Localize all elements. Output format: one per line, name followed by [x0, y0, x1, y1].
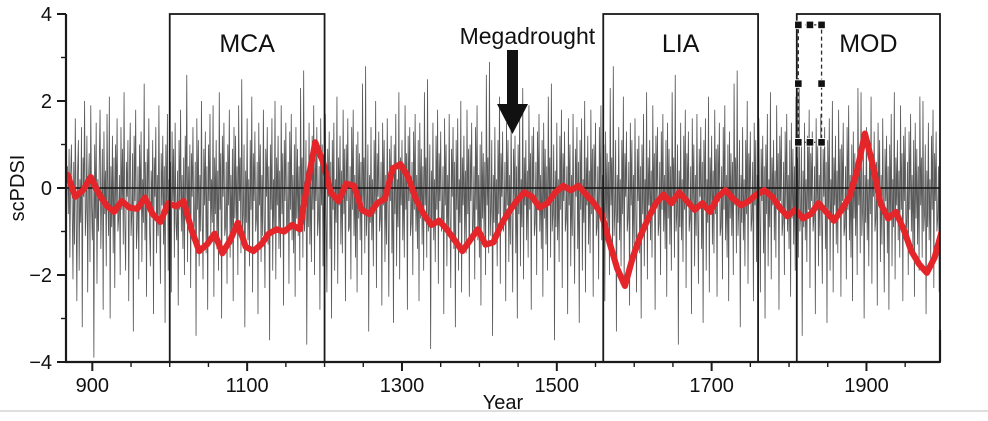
y-tick-label: −2: [29, 265, 52, 287]
chart-figure: −4−2024 90011001300150017001900 MCA LIA …: [0, 0, 988, 421]
x-tick-label: 1500: [535, 375, 580, 397]
period-label-lia: LIA: [662, 30, 700, 58]
selection-handle-7[interactable]: [818, 139, 826, 147]
selection-handle-6[interactable]: [806, 139, 814, 147]
selection-handle-0[interactable]: [795, 21, 803, 29]
x-tick-label: 1300: [380, 375, 425, 397]
x-tick-label: 900: [76, 375, 109, 397]
y-tick-label: 0: [41, 178, 52, 200]
megadrought-annotation-label: Megadrought: [460, 23, 596, 49]
selection-handle-1[interactable]: [806, 21, 814, 29]
selection-handle-4[interactable]: [818, 80, 826, 88]
selection-handle-2[interactable]: [818, 21, 826, 29]
selection-handle-5[interactable]: [795, 139, 803, 147]
period-label-mca: MCA: [219, 30, 275, 58]
y-tick-label: 2: [41, 91, 52, 113]
selection-handle-3[interactable]: [795, 80, 803, 88]
period-label-mod: MOD: [839, 30, 897, 58]
scpdsi-timeseries-chart: −4−2024 90011001300150017001900 MCA LIA …: [0, 0, 988, 421]
y-axis-title: scPDSI: [7, 155, 29, 222]
y-tick-label: 4: [41, 4, 52, 26]
x-tick-label: 1700: [689, 375, 734, 397]
x-tick-label: 1100: [226, 375, 269, 397]
x-tick-label: 1900: [844, 375, 889, 397]
y-tick-label: −4: [29, 352, 52, 374]
